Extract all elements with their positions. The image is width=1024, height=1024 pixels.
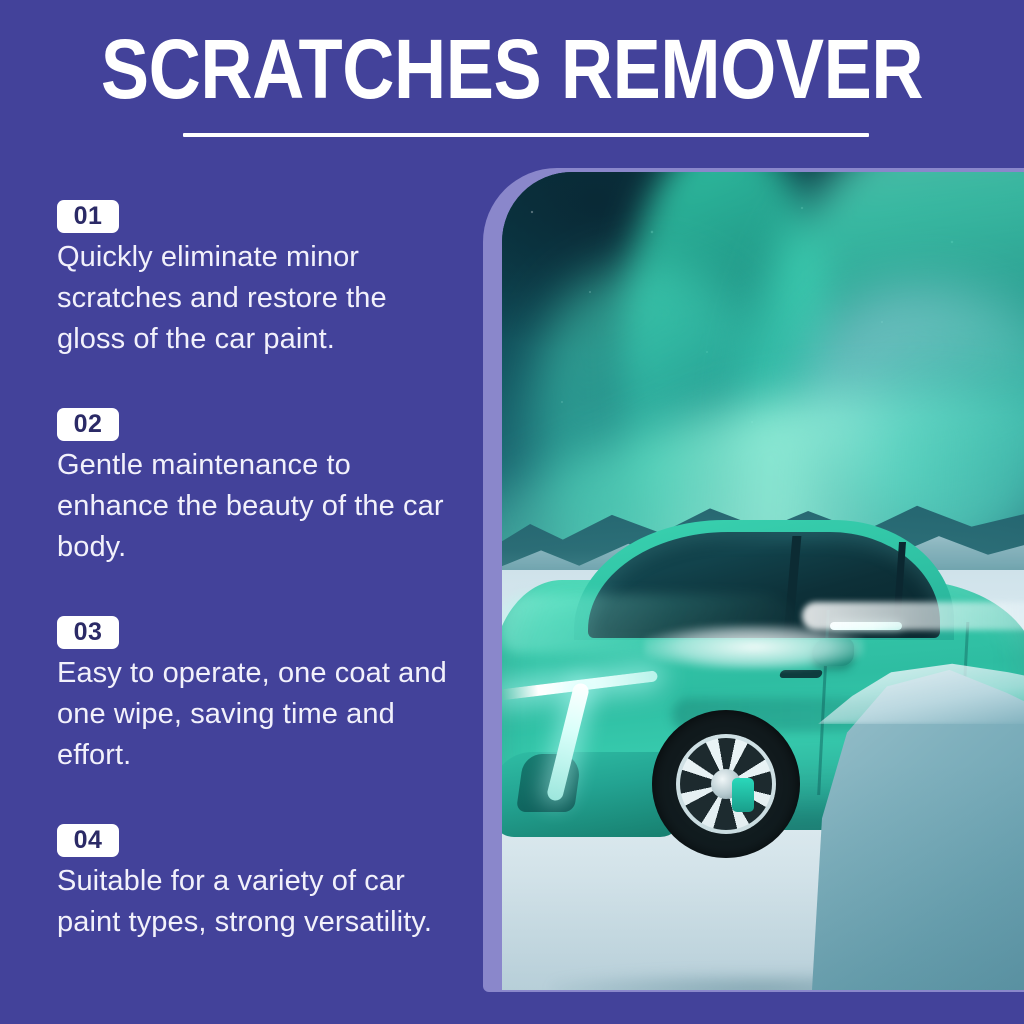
feature-description: Gentle maintenance to enhance the beauty… bbox=[57, 445, 449, 569]
side-vent bbox=[779, 670, 824, 678]
snow-spray bbox=[644, 624, 864, 670]
status-badge: 03 bbox=[57, 616, 119, 649]
poster-canvas: SCRATCHES REMOVER 01 Quickly eliminate m… bbox=[0, 0, 1024, 1024]
poster-header: SCRATCHES REMOVER bbox=[0, 0, 1024, 160]
status-badge: 02 bbox=[57, 408, 119, 441]
status-badge: 01 bbox=[57, 200, 119, 233]
list-item: 01 Quickly eliminate minor scratches and… bbox=[57, 200, 457, 361]
feature-list: 01 Quickly eliminate minor scratches and… bbox=[0, 186, 470, 1006]
title-divider bbox=[183, 133, 869, 137]
list-item: 04 Suitable for a variety of car paint t… bbox=[57, 824, 457, 943]
brake-caliper bbox=[732, 778, 754, 812]
list-item: 02 Gentle maintenance to enhance the bea… bbox=[57, 408, 457, 569]
feature-description: Quickly eliminate minor scratches and re… bbox=[57, 237, 449, 361]
page-title: SCRATCHES REMOVER bbox=[72, 27, 953, 111]
car-photo bbox=[502, 172, 1024, 990]
product-image-panel bbox=[483, 168, 1024, 992]
feature-description: Suitable for a variety of car paint type… bbox=[57, 861, 449, 943]
status-badge: 04 bbox=[57, 824, 119, 857]
feature-description: Easy to operate, one coat and one wipe, … bbox=[57, 653, 449, 777]
list-item: 03 Easy to operate, one coat and one wip… bbox=[57, 616, 457, 777]
